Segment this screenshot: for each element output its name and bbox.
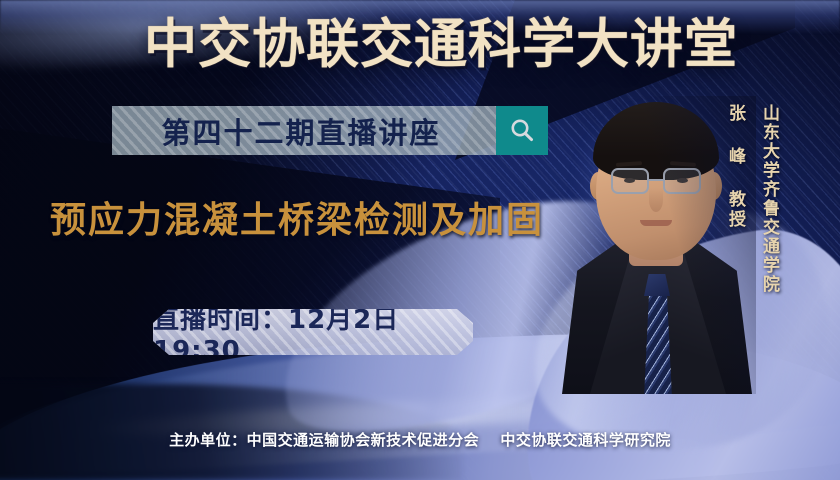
speaker-name: 张 峰 教授 (723, 104, 748, 230)
lecture-title: 预应力混凝土桥梁检测及加固 (50, 191, 544, 243)
episode-label: 第四十二期直播讲座 (112, 106, 496, 155)
broadcast-time-text: 直播时间：12月2日19:30 (153, 309, 473, 355)
poster-main-title: 中交协联交通科学大讲堂 (0, 18, 840, 71)
episode-bar: 第四十二期直播讲座 (112, 106, 548, 155)
broadcast-time-pill: 直播时间：12月2日19:30 (153, 309, 473, 355)
poster-canvas: 中交协联交通科学大讲堂 第四十二期直播讲座 预应力混凝土桥梁检测及加固 直播时间… (0, 0, 840, 480)
search-icon (507, 116, 537, 146)
organizer-footer: 主办单位：中国交通运输协会新技术促进分会 中交协联交通科学研究院 (0, 424, 840, 454)
speaker-organization: 山东大学齐鲁交通学院 (757, 104, 782, 294)
search-icon-button[interactable] (496, 106, 548, 155)
